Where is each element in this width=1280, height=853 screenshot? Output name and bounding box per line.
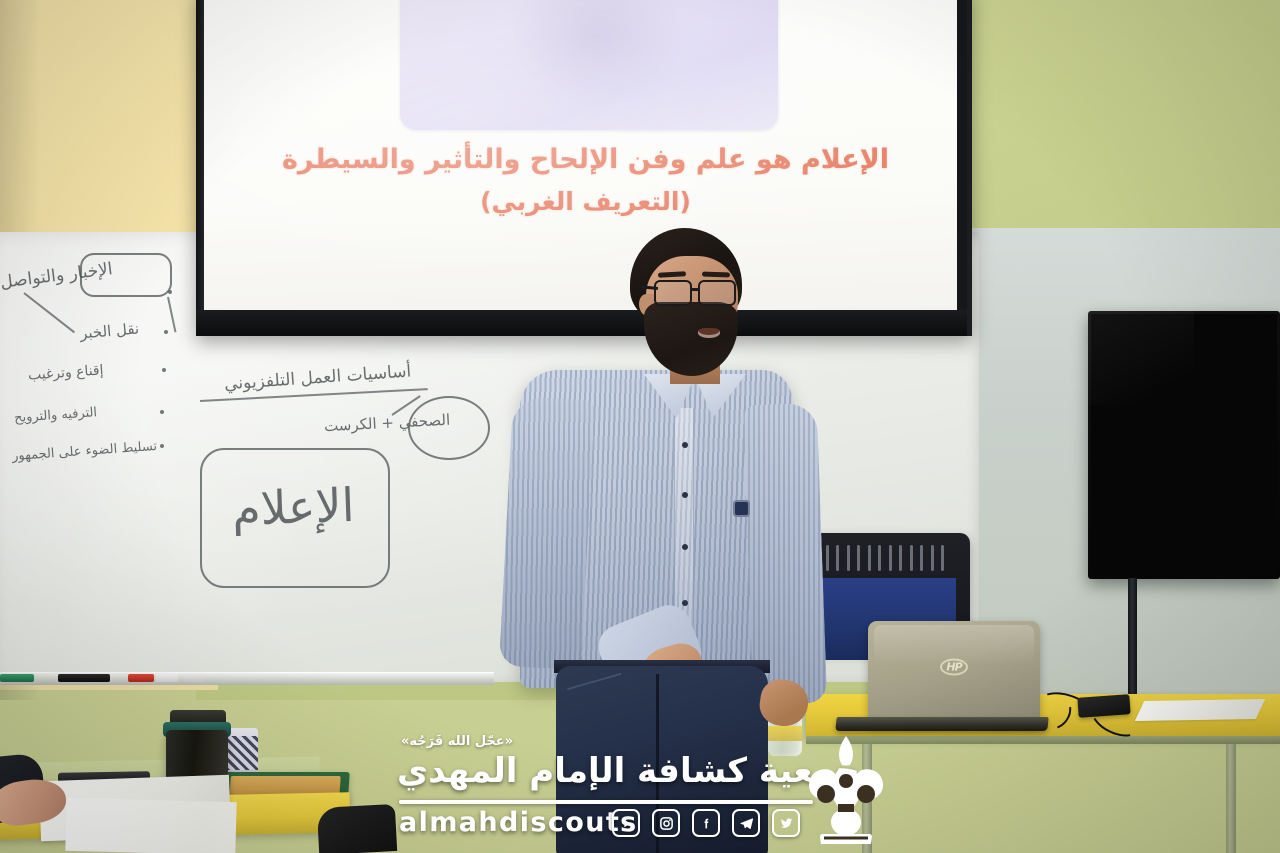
marker-white-1[interactable]	[156, 674, 178, 682]
shirt-button-1	[682, 442, 688, 448]
whiteboard-bullet-2	[164, 330, 168, 334]
presenter-desk-edge	[806, 736, 1280, 744]
whiteboard-bullet-5	[160, 444, 164, 448]
watermark-tagline: «عجّل الله فَرَجُه»	[401, 734, 513, 749]
desk-leg-right	[1226, 744, 1236, 853]
wall-right-green	[960, 0, 1280, 262]
marker-black[interactable]	[58, 674, 110, 682]
shirt-button-2	[682, 492, 688, 498]
marker-green[interactable]	[0, 674, 34, 682]
whiteboard-circle-1	[408, 396, 490, 460]
presenter-mouth	[698, 328, 720, 338]
tv-sheen	[1088, 311, 1194, 405]
slide-image-placeholder	[400, 0, 778, 130]
chair-slots	[826, 545, 944, 571]
whiteboard-bullet-4	[160, 410, 164, 414]
laptop-lid: HP	[868, 621, 1040, 725]
presenter-beard	[644, 302, 738, 376]
tv-stand-pole	[1128, 578, 1137, 700]
slide-line-1: الإعلام هو علم وفن الإلحاح والتأثير والس…	[282, 144, 889, 175]
whiteboard-note-r2: الإعلام	[231, 478, 355, 536]
glasses-lens-right	[698, 280, 736, 306]
wall-television	[1088, 311, 1280, 579]
screen-left-strip	[196, 0, 204, 336]
presenter-left-sleeve	[499, 396, 595, 670]
slide-line-2: (التعريف الغربي)	[244, 183, 927, 221]
whiteboard-bullet-1	[168, 290, 172, 294]
laptop-base	[835, 717, 1048, 731]
presenter	[498, 228, 828, 853]
desk-leg-left	[862, 744, 872, 853]
jeans-seam	[656, 674, 659, 853]
whiteboard-bullet-3	[162, 368, 166, 372]
marker-white-2[interactable]	[184, 674, 204, 682]
hp-logo-icon: HP	[940, 658, 968, 675]
glasses-bridge	[691, 288, 699, 291]
glasses-lens-left	[654, 280, 692, 306]
shirt-button-3	[682, 544, 688, 550]
marker-red[interactable]	[128, 674, 154, 682]
photo-scene: الإخبار والتواصل نقل الخبر إقناع وترغيب …	[0, 0, 1280, 853]
foreground-papers-2	[65, 798, 236, 853]
shirt-pocket-logo-icon	[733, 500, 750, 517]
papers-on-desk	[1135, 699, 1265, 721]
foreground-chair	[317, 804, 397, 853]
shirt-button-4	[682, 600, 688, 606]
slide-text: الإعلام هو علم وفن الإلحاح والتأثير والس…	[244, 140, 927, 220]
presenter-eyebrow-right	[702, 272, 730, 278]
